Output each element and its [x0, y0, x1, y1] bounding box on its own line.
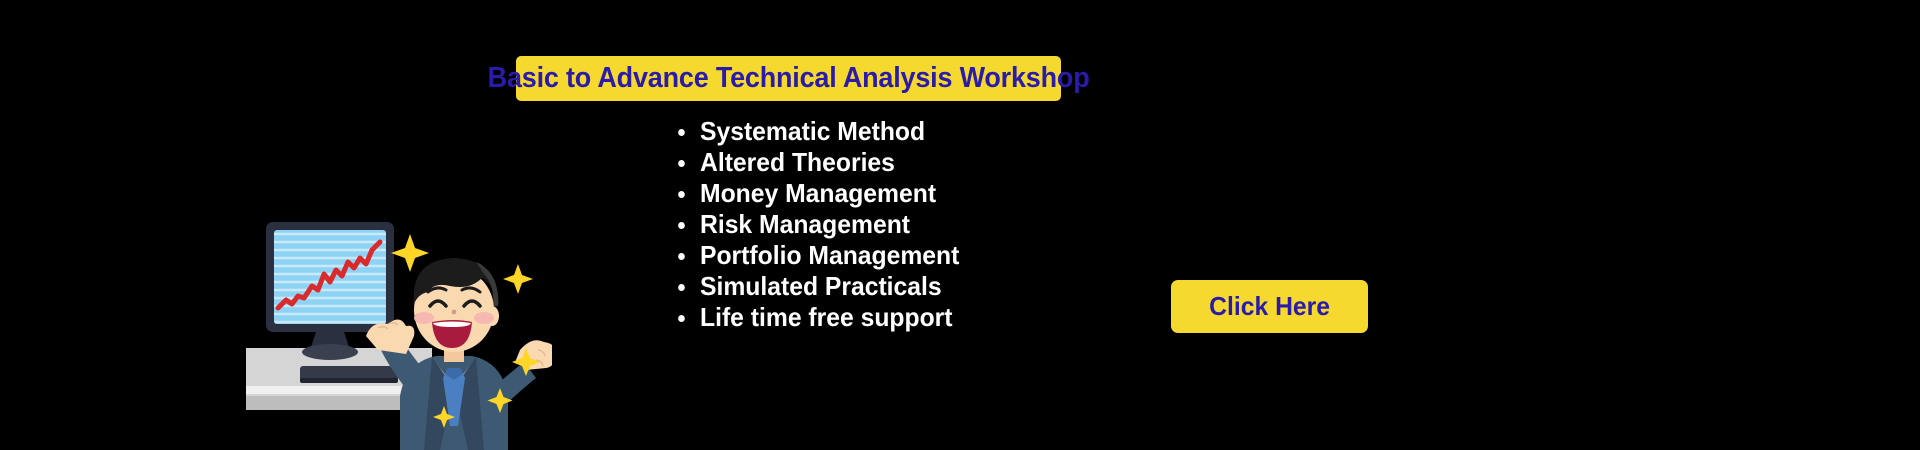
keyboard-shape — [300, 366, 398, 383]
click-here-label: Click Here — [1209, 291, 1330, 322]
bullet-dot-icon — [678, 315, 685, 322]
list-item: Life time free support — [700, 302, 959, 333]
click-here-button[interactable]: Click Here — [1171, 280, 1368, 333]
list-item: Portfolio Management — [700, 240, 959, 271]
list-item: Simulated Practicals — [700, 271, 959, 302]
list-item-label: Simulated Practicals — [700, 271, 942, 301]
right-blush — [474, 312, 494, 324]
list-item-label: Life time free support — [700, 302, 953, 332]
happy-businessman-illustration — [232, 200, 552, 450]
list-item: Altered Theories — [700, 147, 959, 178]
workshop-title-banner: Basic to Advance Technical Analysis Work… — [516, 56, 1061, 101]
bullet-dot-icon — [678, 222, 685, 229]
sparkle-icon — [503, 264, 533, 294]
bullet-dot-icon — [678, 253, 685, 260]
list-item-label: Risk Management — [700, 209, 910, 239]
left-blush — [414, 312, 434, 324]
list-item: Systematic Method — [700, 116, 959, 147]
bullet-dot-icon — [678, 129, 685, 136]
bullet-dot-icon — [678, 284, 685, 291]
bullet-dot-icon — [678, 191, 685, 198]
list-item-label: Money Management — [700, 178, 936, 208]
list-item: Money Management — [700, 178, 959, 209]
list-item-label: Portfolio Management — [700, 240, 959, 270]
feature-list: Systematic Method Altered Theories Money… — [668, 116, 973, 333]
list-item-label: Systematic Method — [700, 116, 925, 146]
promo-banner: Basic to Advance Technical Analysis Work… — [0, 0, 1920, 450]
sparkle-icon — [391, 234, 429, 272]
list-item: Risk Management — [700, 209, 959, 240]
monitor-screen — [274, 230, 386, 324]
bullet-dot-icon — [678, 160, 685, 167]
page-title: Basic to Advance Technical Analysis Work… — [488, 62, 1090, 95]
list-item-label: Altered Theories — [700, 147, 895, 177]
